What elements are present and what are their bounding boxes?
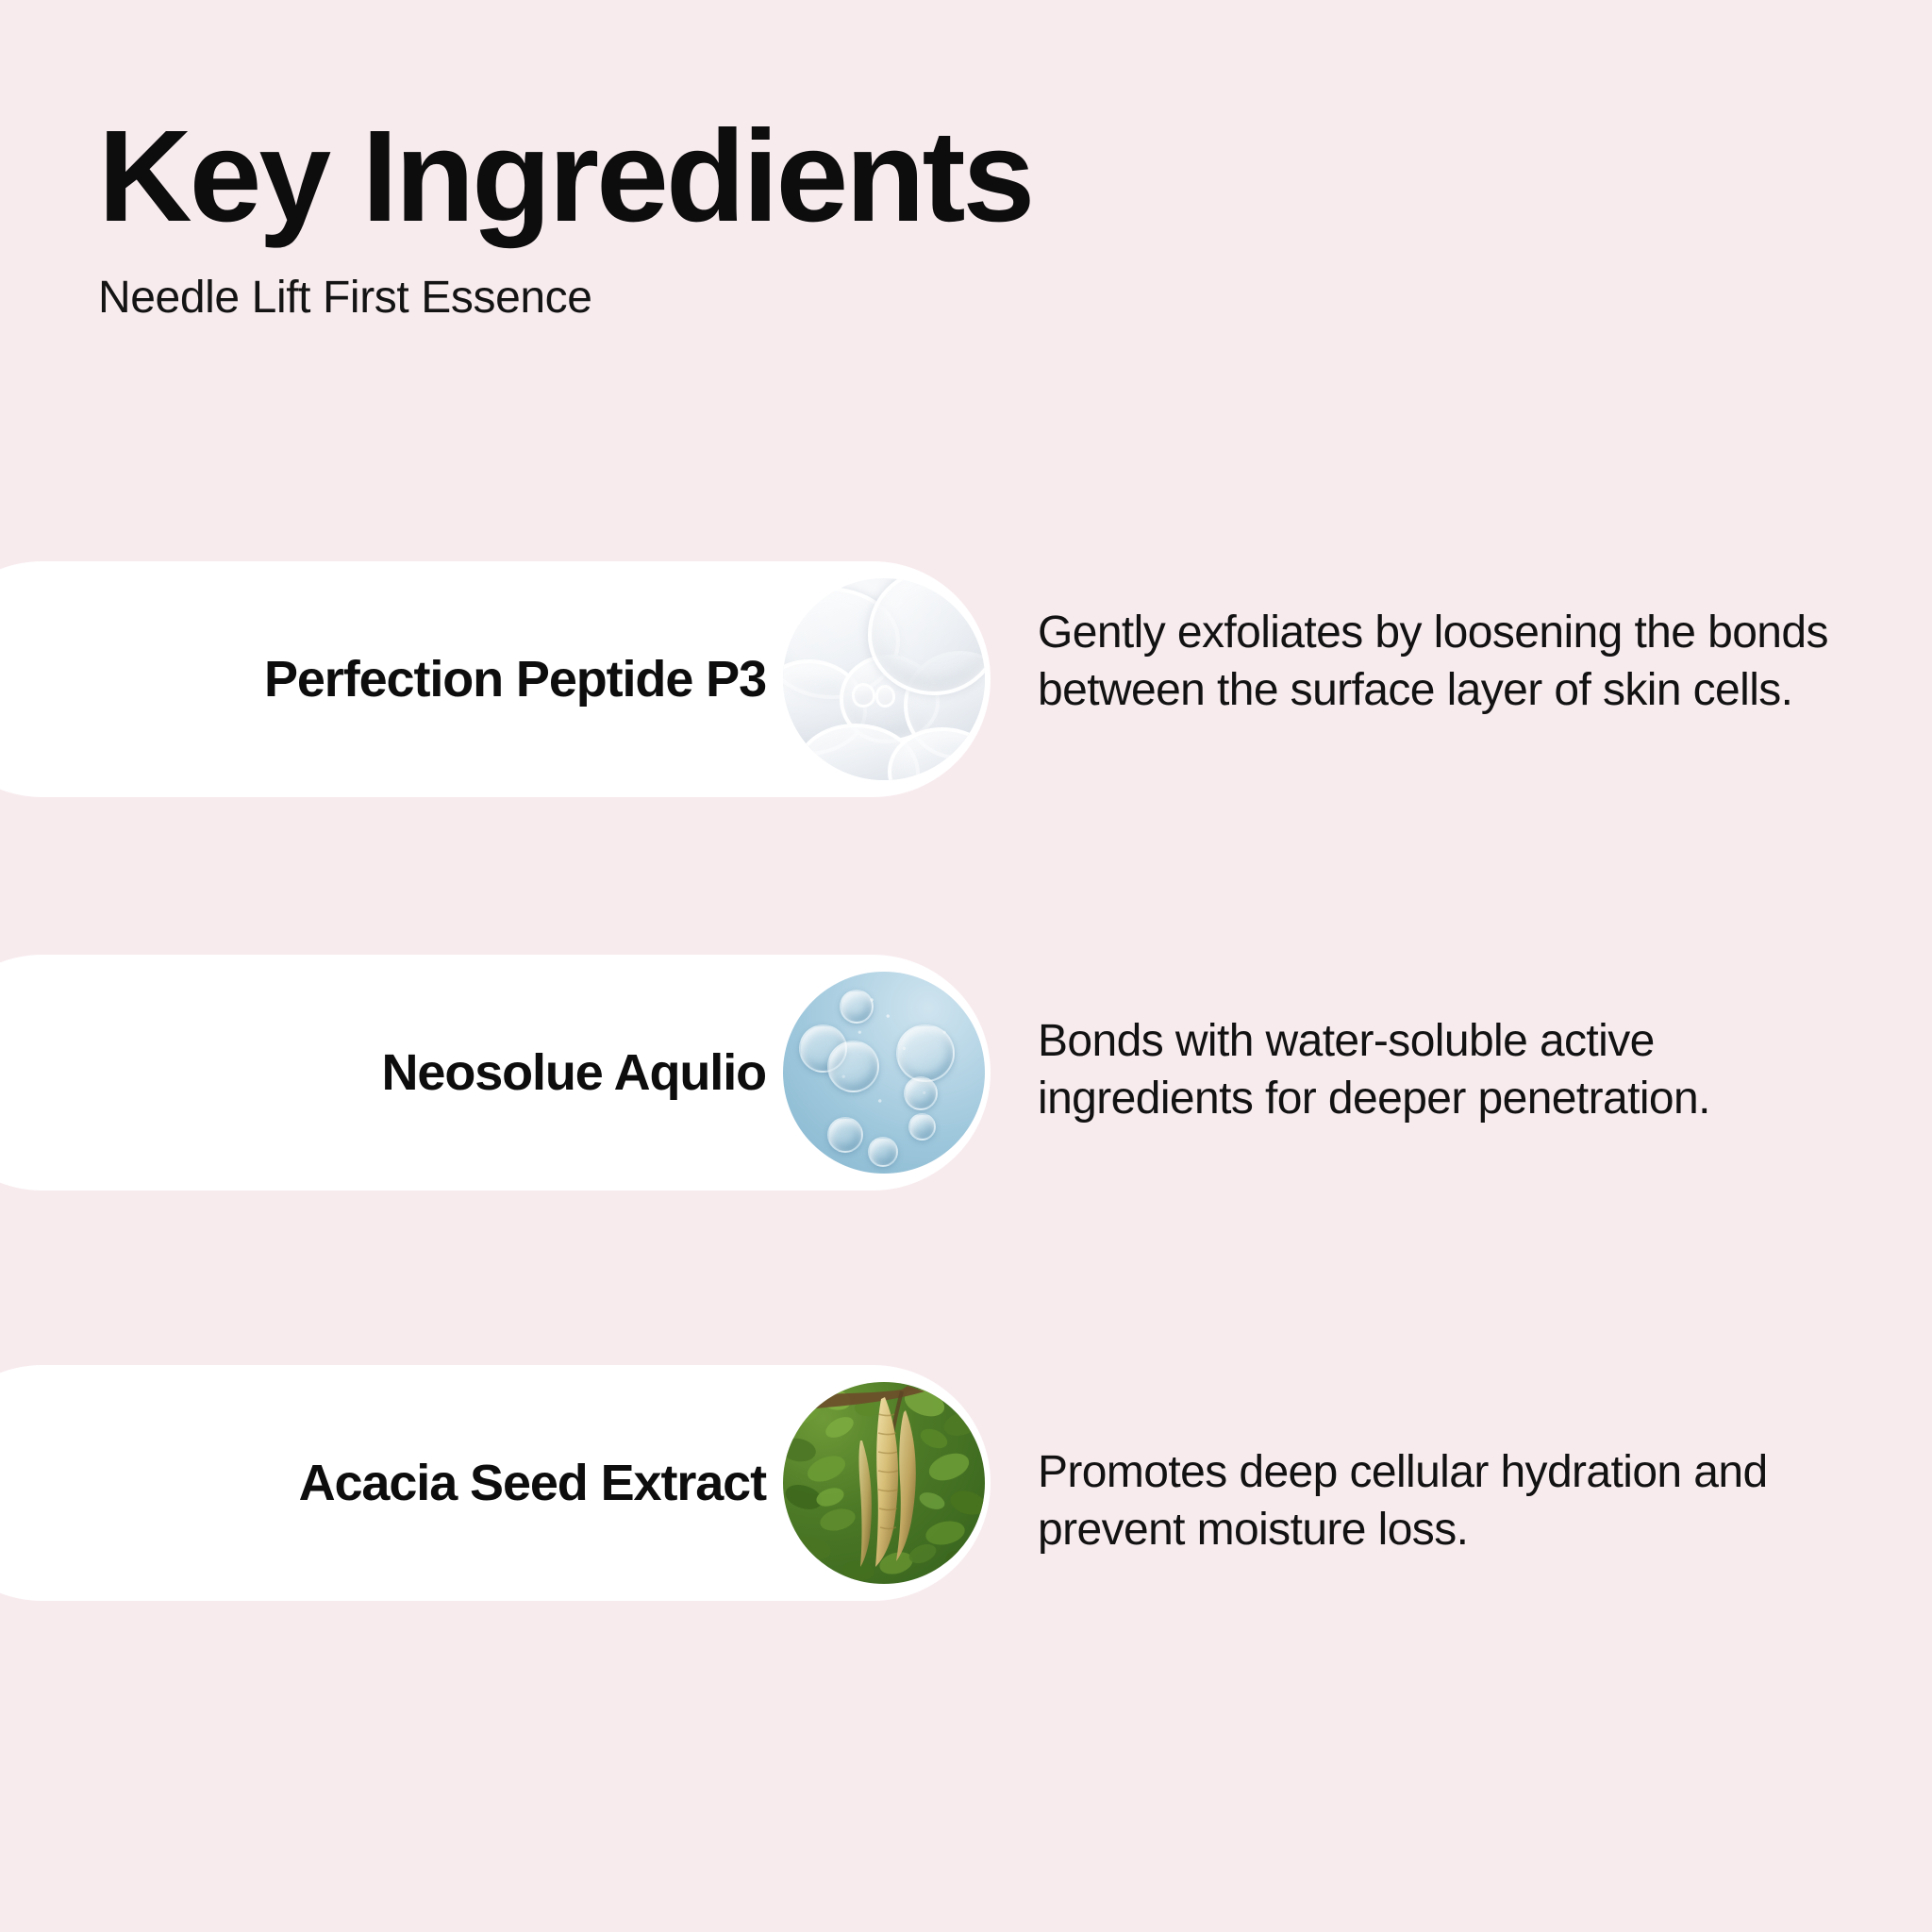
water-droplets-image [783,972,985,1174]
ingredient-thumbnail [783,1382,985,1584]
ingredient-list: Perfection Peptide P3 Gently exfoliates … [0,0,1932,1932]
key-ingredients-infographic: Key Ingredients Needle Lift First Essenc… [0,0,1932,1932]
ingredient-thumbnail [783,578,985,780]
acacia-seed-image [783,1382,985,1584]
ingredient-thumbnail [783,972,985,1174]
ingredient-name: Acacia Seed Extract [75,1365,792,1601]
ingredient-name: Perfection Peptide P3 [75,561,792,797]
ingredient-name: Neosolue Aqulio [75,955,792,1191]
acacia-foliage-art [783,1382,985,1584]
ingredient-description: Bonds with water-soluble active ingredie… [1038,1012,1868,1128]
gel-bubbles-image [783,578,985,780]
ingredient-description: Gently exfoliates by loosening the bonds… [1038,604,1868,720]
ingredient-description: Promotes deep cellular hydration and pre… [1038,1443,1868,1559]
